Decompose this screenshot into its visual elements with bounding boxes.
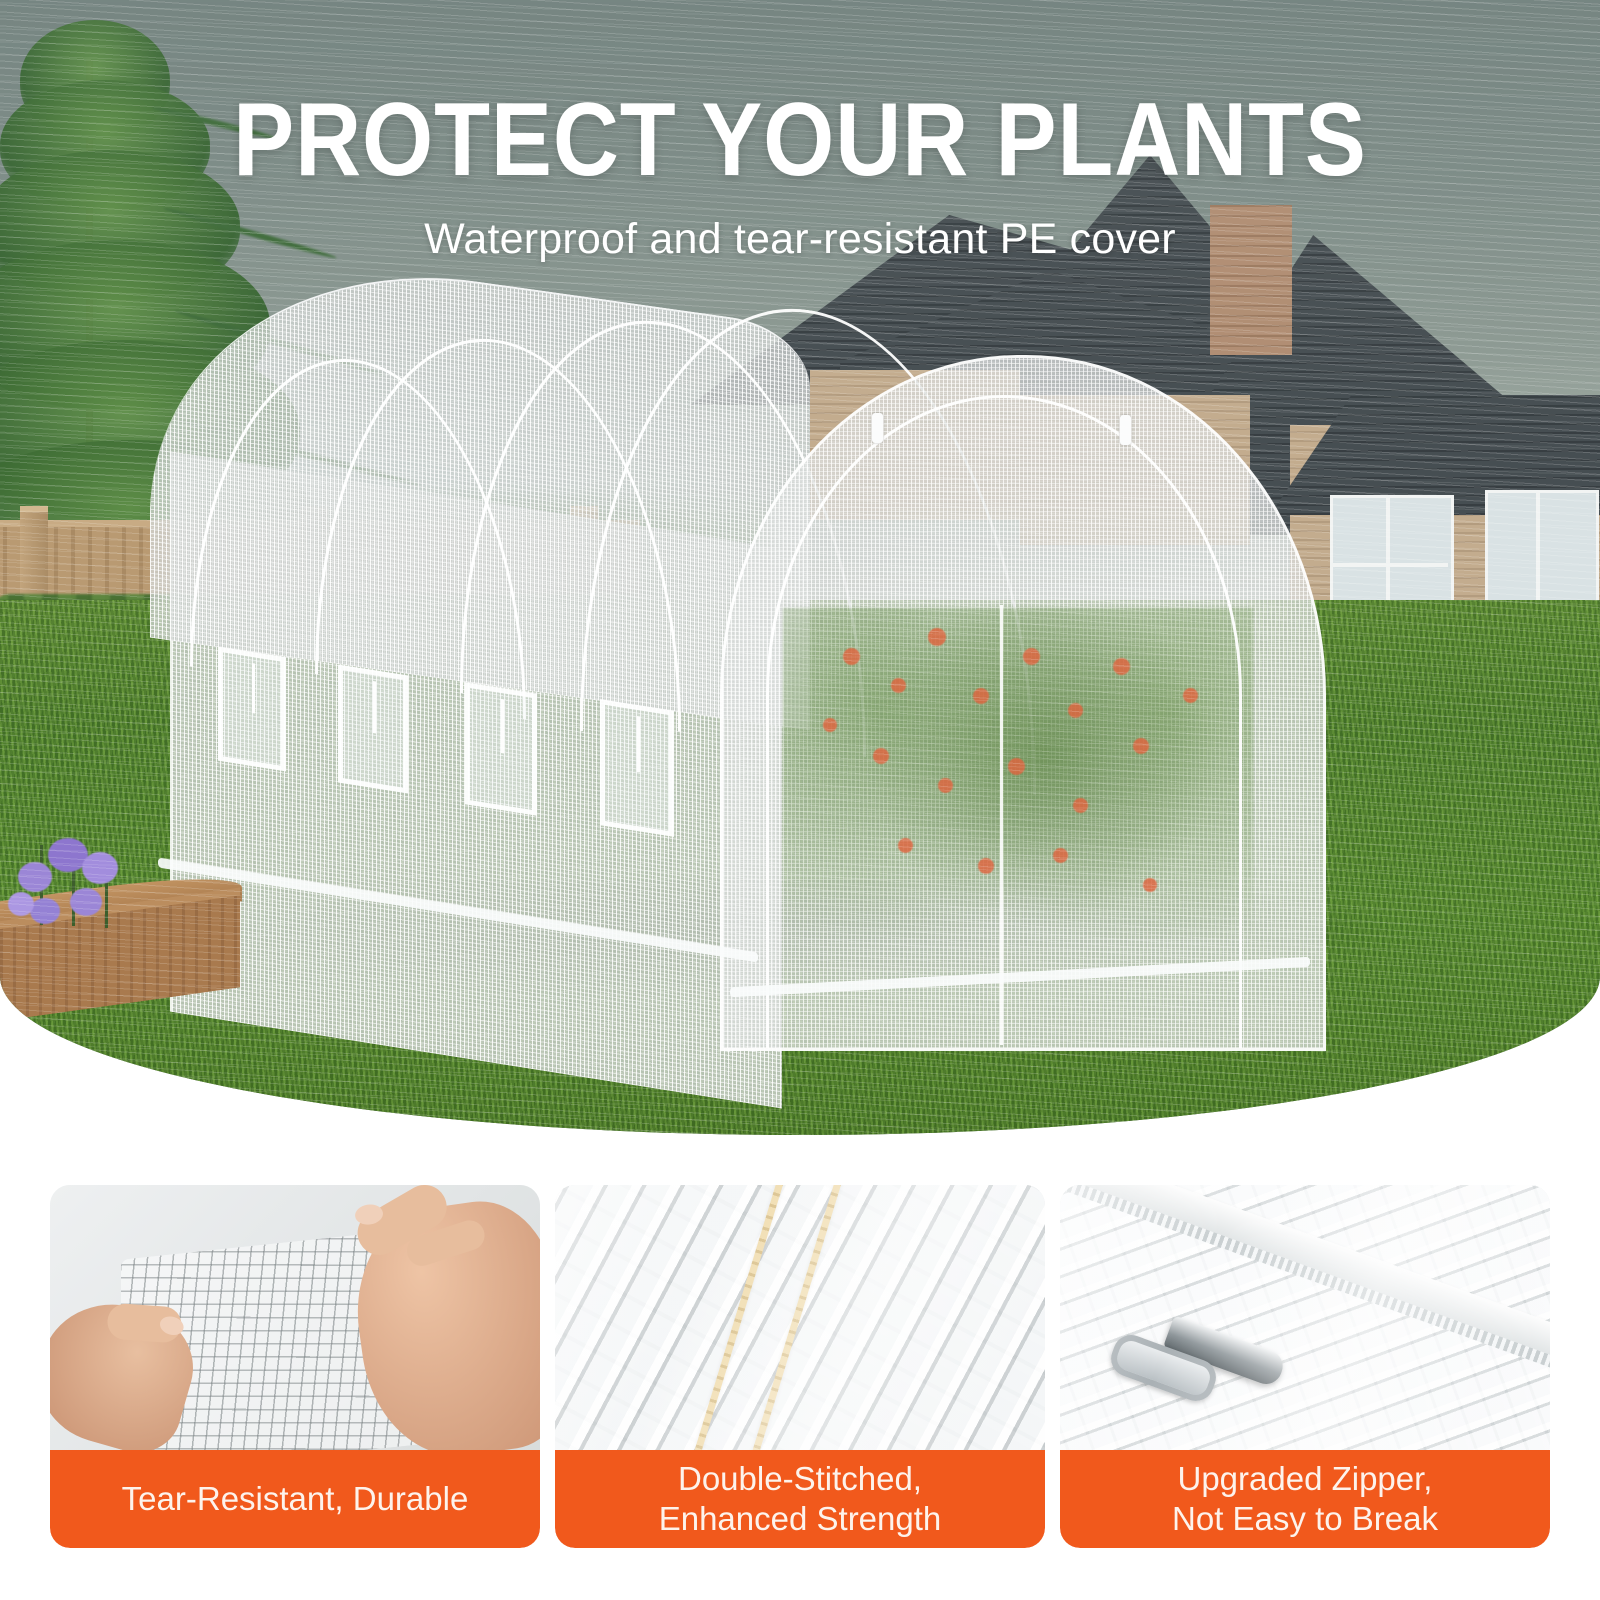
feature-caption-text: Upgraded Zipper, Not Easy to Break xyxy=(1172,1459,1438,1540)
feature-card-tear-resistant: Tear-Resistant, Durable xyxy=(50,1185,540,1548)
feature-caption-bar: Upgraded Zipper, Not Easy to Break xyxy=(1060,1450,1550,1548)
greenhouse-door[interactable] xyxy=(766,395,1242,1048)
feature-caption-text: Tear-Resistant, Durable xyxy=(122,1479,469,1519)
feature-card-double-stitched: Double-Stitched, Enhanced Strength xyxy=(555,1185,1045,1548)
feature-cards: Tear-Resistant, Durable Double-Stitched,… xyxy=(0,1185,1600,1555)
feature-caption-bar: Double-Stitched, Enhanced Strength xyxy=(555,1450,1045,1548)
feature-caption-text: Double-Stitched, Enhanced Strength xyxy=(659,1459,942,1540)
side-window[interactable] xyxy=(465,682,537,815)
page-title: PROTECT YOUR PLANTS xyxy=(96,88,1504,192)
side-window[interactable] xyxy=(218,647,286,772)
frame-clip xyxy=(1120,415,1131,445)
product-feature-page: PROTECT YOUR PLANTS Waterproof and tear-… xyxy=(0,0,1600,1600)
side-window[interactable] xyxy=(600,699,674,837)
feature-photo-mesh-stretch xyxy=(50,1185,540,1450)
page-subtitle: Waterproof and tear-resistant PE cover xyxy=(0,215,1600,264)
feature-caption-bar: Tear-Resistant, Durable xyxy=(50,1450,540,1548)
greenhouse-front xyxy=(720,355,1320,1045)
side-window[interactable] xyxy=(338,664,408,793)
feature-photo-stitching xyxy=(555,1185,1045,1450)
hero-image: PROTECT YOUR PLANTS Waterproof and tear-… xyxy=(0,0,1600,1135)
feature-photo-zipper xyxy=(1060,1185,1550,1450)
frame-clip xyxy=(872,413,883,443)
tunnel-greenhouse xyxy=(130,300,1380,1000)
feature-card-upgraded-zipper: Upgraded Zipper, Not Easy to Break xyxy=(1060,1185,1550,1548)
